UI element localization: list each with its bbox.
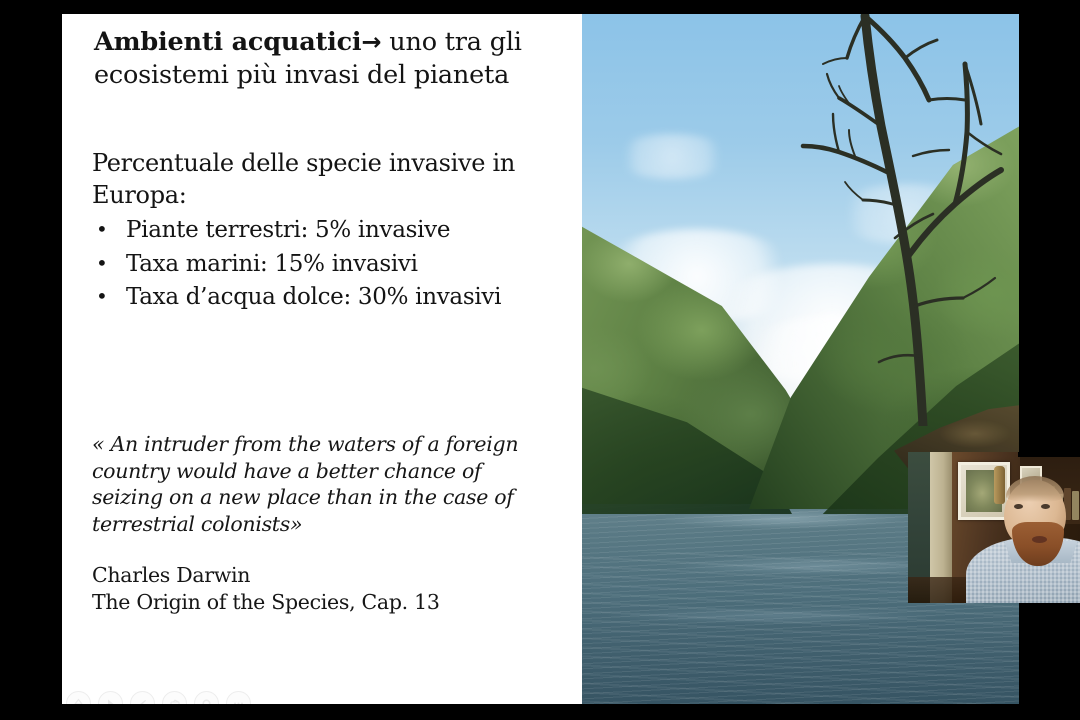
book: [1072, 491, 1079, 520]
slide-text-column: Ambienti acquatici→ uno tra gli ecosiste…: [62, 14, 582, 704]
more-options-icon[interactable]: [226, 691, 251, 704]
list-item: Taxa d’acqua dolce: 30% invasivi: [92, 281, 582, 315]
participant-mouth: [1032, 536, 1047, 543]
quote-attribution: Charles Darwin The Origin of the Species…: [92, 562, 552, 615]
darwin-quote: « An intruder from the waters of a forei…: [92, 431, 552, 537]
pointer-up-icon[interactable]: [66, 691, 91, 704]
laser-pointer-icon[interactable]: [98, 691, 123, 704]
slide-lead-text: Percentuale delle specie invasive in Eur…: [92, 147, 572, 211]
bare-dead-tree: [795, 14, 1019, 426]
webcam-self-view[interactable]: [908, 452, 1080, 603]
stop-record-icon[interactable]: [194, 691, 219, 704]
list-item: Taxa marini: 15% invasivi: [92, 248, 582, 282]
presentation-slide[interactable]: Ambienti acquatici→ uno tra gli ecosiste…: [62, 14, 1019, 704]
pen-icon[interactable]: [130, 691, 155, 704]
eraser-icon[interactable]: [162, 691, 187, 704]
cloud: [612, 134, 732, 179]
participant-eye-left: [1014, 504, 1023, 509]
screen-share-stage: Ambienti acquatici→ uno tra gli ecosiste…: [0, 0, 1080, 720]
list-item: Piante terrestri: 5% invasive: [92, 214, 582, 248]
vase: [994, 466, 1005, 504]
pip-corner-notch: [1018, 452, 1080, 457]
invasive-species-bullet-list: Piante terrestri: 5% invasive Taxa marin…: [92, 214, 582, 315]
right-arrow-icon: →: [361, 28, 381, 56]
presentation-annotation-toolbar[interactable]: [66, 691, 251, 704]
quote-source: The Origin of the Species, Cap. 13: [92, 589, 552, 616]
slide-title: Ambienti acquatici→ uno tra gli ecosiste…: [94, 26, 564, 92]
participant-eye-right: [1041, 504, 1050, 509]
slide-title-bold: Ambienti acquatici: [94, 27, 361, 57]
quote-author: Charles Darwin: [92, 562, 552, 589]
